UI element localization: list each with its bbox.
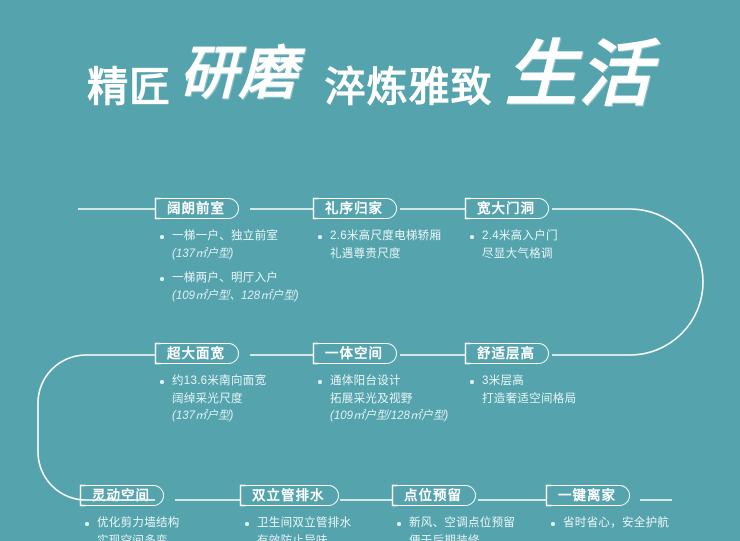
bullet-item: 2.4米高入户门 尽显大气格调 [469,228,623,263]
bullet-item: 通体阳台设计 拓展采光及视野 (109㎡户型/128㎡户型) [317,373,471,426]
feature-card-6[interactable]: 舒适层高 3米层高 打造奢适空间格局 [465,343,623,415]
feature-bullets-2: 2.6米高尺度电梯轿厢 礼遇尊贵尺度 [313,228,471,263]
feature-label-10: 一键离家 [546,485,630,506]
bullet-sub: 阔绰采光尺度 [172,391,313,409]
bullet-main: 通体阳台设计 [330,375,401,387]
bullet-sub: 有效防止异味 [257,533,398,541]
bullet-main: 3米层高 [482,375,524,387]
bullet-sub: 便于后期装修 [409,533,550,541]
headline-segment-4: 生活 [505,38,653,110]
bullet-sub: 实现空间多变 [97,533,238,541]
feature-card-8[interactable]: 双立管排水 卫生间双立管排水 有效防止异味 [240,485,398,541]
bullet-item: 一梯一户、独立前室 (137㎡户型) [159,228,313,263]
bullet-main: 2.4米高入户门 [482,230,558,242]
bullet-note: (137㎡户型) [172,408,313,426]
feature-label-8: 双立管排水 [240,485,339,506]
feature-label-6: 舒适层高 [465,343,549,364]
bullet-item: 2.6米高尺度电梯轿厢 礼遇尊贵尺度 [317,228,471,263]
bullet-item: 新风、空调点位预留 便于后期装修 [396,515,550,541]
bullet-note: (137㎡户型) [172,246,313,264]
feature-label-9: 点位预留 [392,485,476,506]
bullet-item: 约13.6米南向面宽 阔绰采光尺度 (137㎡户型) [159,373,313,426]
feature-card-4[interactable]: 超大面宽 约13.6米南向面宽 阔绰采光尺度 (137㎡户型) [155,343,313,433]
feature-label-4: 超大面宽 [155,343,239,364]
feature-label-7: 灵动空间 [80,485,164,506]
bullet-main: 2.6米高尺度电梯轿厢 [330,230,441,242]
feature-bullets-9: 新风、空调点位预留 便于后期装修 [392,515,550,541]
bullet-item: 卫生间双立管排水 有效防止异味 [244,515,398,541]
bullet-sub: 尽显大气格调 [482,246,623,264]
feature-card-9[interactable]: 点位预留 新风、空调点位预留 便于后期装修 [392,485,550,541]
bullet-item: 优化剪力墙结构 实现空间多变 [84,515,238,541]
headline-segment-3: 淬炼雅致 [324,67,492,108]
bullet-main: 新风、空调点位预留 [409,517,515,529]
feature-card-3[interactable]: 宽大门洞 2.4米高入户门 尽显大气格调 [465,198,623,270]
feature-label-3: 宽大门洞 [465,198,549,219]
feature-card-10[interactable]: 一键离家 省时省心，安全护航 [546,485,704,540]
bullet-main: 卫生间双立管排水 [257,517,351,529]
bullet-main: 优化剪力墙结构 [97,517,180,529]
feature-label-2: 礼序归家 [313,198,397,219]
bullet-main: 一梯一户、独立前室 [172,230,278,242]
feature-label-1: 阔朗前室 [155,198,239,219]
page-headline: 精匠 研磨 淬炼雅致 生活 [0,34,740,144]
feature-card-1[interactable]: 阔朗前室 一梯一户、独立前室 (137㎡户型) 一梯两户、明厅入户 (109㎡户… [155,198,313,312]
feature-bullets-7: 优化剪力墙结构 实现空间多变 [80,515,238,541]
feature-card-7[interactable]: 灵动空间 优化剪力墙结构 实现空间多变 [80,485,238,541]
bullet-note: (109㎡户型、128㎡户型) [172,288,313,306]
feature-bullets-8: 卫生间双立管排水 有效防止异味 [240,515,398,541]
bullet-main: 省时省心，安全护航 [563,517,669,529]
feature-bullets-1: 一梯一户、独立前室 (137㎡户型) 一梯两户、明厅入户 (109㎡户型、128… [155,228,313,305]
headline-segment-2: 研磨 [180,44,298,102]
headline-segment-1: 精匠 [87,67,171,108]
bullet-item: 省时省心，安全护航 [550,515,704,533]
feature-bullets-6: 3米层高 打造奢适空间格局 [465,373,623,408]
bullet-sub: 拓展采光及视野 [330,391,471,409]
bullet-sub: 礼遇尊贵尺度 [330,246,471,264]
bullet-item: 3米层高 打造奢适空间格局 [469,373,623,408]
feature-label-5: 一体空间 [313,343,397,364]
bullet-item: 一梯两户、明厅入户 (109㎡户型、128㎡户型) [159,270,313,305]
bullet-main: 约13.6米南向面宽 [172,375,266,387]
feature-bullets-4: 约13.6米南向面宽 阔绰采光尺度 (137㎡户型) [155,373,313,426]
connector-r2-to-r3 [38,355,155,500]
feature-card-2[interactable]: 礼序归家 2.6米高尺度电梯轿厢 礼遇尊贵尺度 [313,198,471,270]
bullet-sub: 打造奢适空间格局 [482,391,623,409]
bullet-note: (109㎡户型/128㎡户型) [330,408,471,426]
feature-bullets-5: 通体阳台设计 拓展采光及视野 (109㎡户型/128㎡户型) [313,373,471,426]
feature-card-5[interactable]: 一体空间 通体阳台设计 拓展采光及视野 (109㎡户型/128㎡户型) [313,343,471,433]
feature-bullets-10: 省时省心，安全护航 [546,515,704,533]
feature-bullets-3: 2.4米高入户门 尽显大气格调 [465,228,623,263]
bullet-main: 一梯两户、明厅入户 [172,272,278,284]
